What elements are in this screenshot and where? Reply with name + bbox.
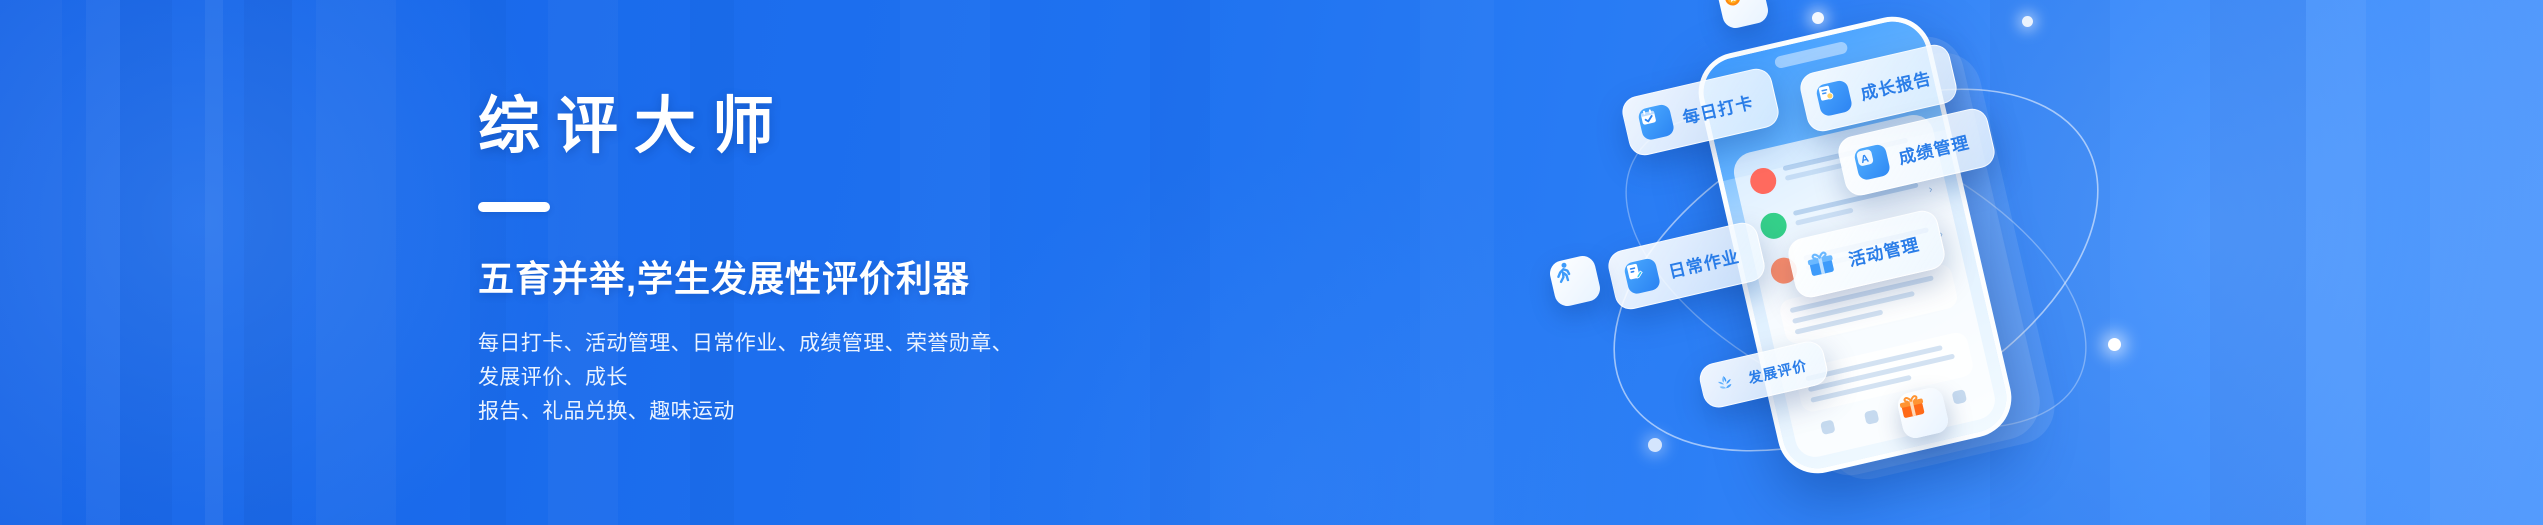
tab-icon xyxy=(1820,419,1836,435)
leaf-icon xyxy=(1758,210,1789,241)
banner-description: 每日打卡、活动管理、日常作业、成绩管理、荣誉勋章、发展评价、成长 报告、礼品兑换… xyxy=(478,327,1023,429)
sparkle-dot xyxy=(1648,438,1662,452)
bell-icon xyxy=(1748,165,1779,196)
grade-a-icon: A xyxy=(1853,143,1891,181)
page-title: 综评大师 xyxy=(478,96,1023,158)
gift-box-icon xyxy=(1803,245,1841,283)
promo-banner: 综评大师 五育并举,学生发展性评价利器 每日打卡、活动管理、日常作业、成绩管理、… xyxy=(0,0,2543,525)
phone-notch xyxy=(1774,41,1849,69)
banner-tagline: 五育并举,学生发展性评价利器 xyxy=(478,258,1023,300)
title-divider xyxy=(478,202,550,212)
feature-card-label: 成绩管理 xyxy=(1896,128,1972,169)
sparkle-dot xyxy=(2108,338,2121,351)
gift-box-orange-icon xyxy=(1895,389,1929,423)
running-person-icon-tile[interactable] xyxy=(1547,253,1602,308)
report-document-icon xyxy=(1815,79,1853,117)
medal-badge-icon xyxy=(1715,0,1749,13)
sparkle-dot xyxy=(2022,16,2033,27)
tab-icon xyxy=(1951,389,1967,405)
feature-card-label: 每日打卡 xyxy=(1680,88,1756,129)
tab-icon xyxy=(1864,409,1880,425)
feature-card-daily-homework[interactable]: 日常作业 xyxy=(1605,220,1768,313)
feature-card-label: 成长报告 xyxy=(1858,64,1934,105)
running-person-icon xyxy=(1547,258,1578,289)
illustration-scene: › › › xyxy=(1540,0,2180,525)
feature-card-label: 活动管理 xyxy=(1846,230,1922,271)
lotus-evaluation-icon xyxy=(1711,368,1741,398)
description-line-2: 报告、礼品兑换、趣味运动 xyxy=(478,395,1023,429)
homework-pencil-icon xyxy=(1623,257,1661,295)
description-line-1: 每日打卡、活动管理、日常作业、成绩管理、荣誉勋章、发展评价、成长 xyxy=(478,327,1023,395)
hero-illustration: › › › xyxy=(1540,0,2180,525)
banner-copy: 综评大师 五育并举,学生发展性评价利器 每日打卡、活动管理、日常作业、成绩管理、… xyxy=(478,0,1023,525)
chevron-right-icon: › xyxy=(1927,183,1933,196)
feature-card-label: 发展评价 xyxy=(1746,355,1809,388)
calendar-check-icon xyxy=(1637,103,1675,141)
sparkle-dot xyxy=(1812,12,1824,24)
medal-badge-icon-tile[interactable] xyxy=(1715,0,1770,31)
feature-card-label: 日常作业 xyxy=(1666,242,1742,283)
